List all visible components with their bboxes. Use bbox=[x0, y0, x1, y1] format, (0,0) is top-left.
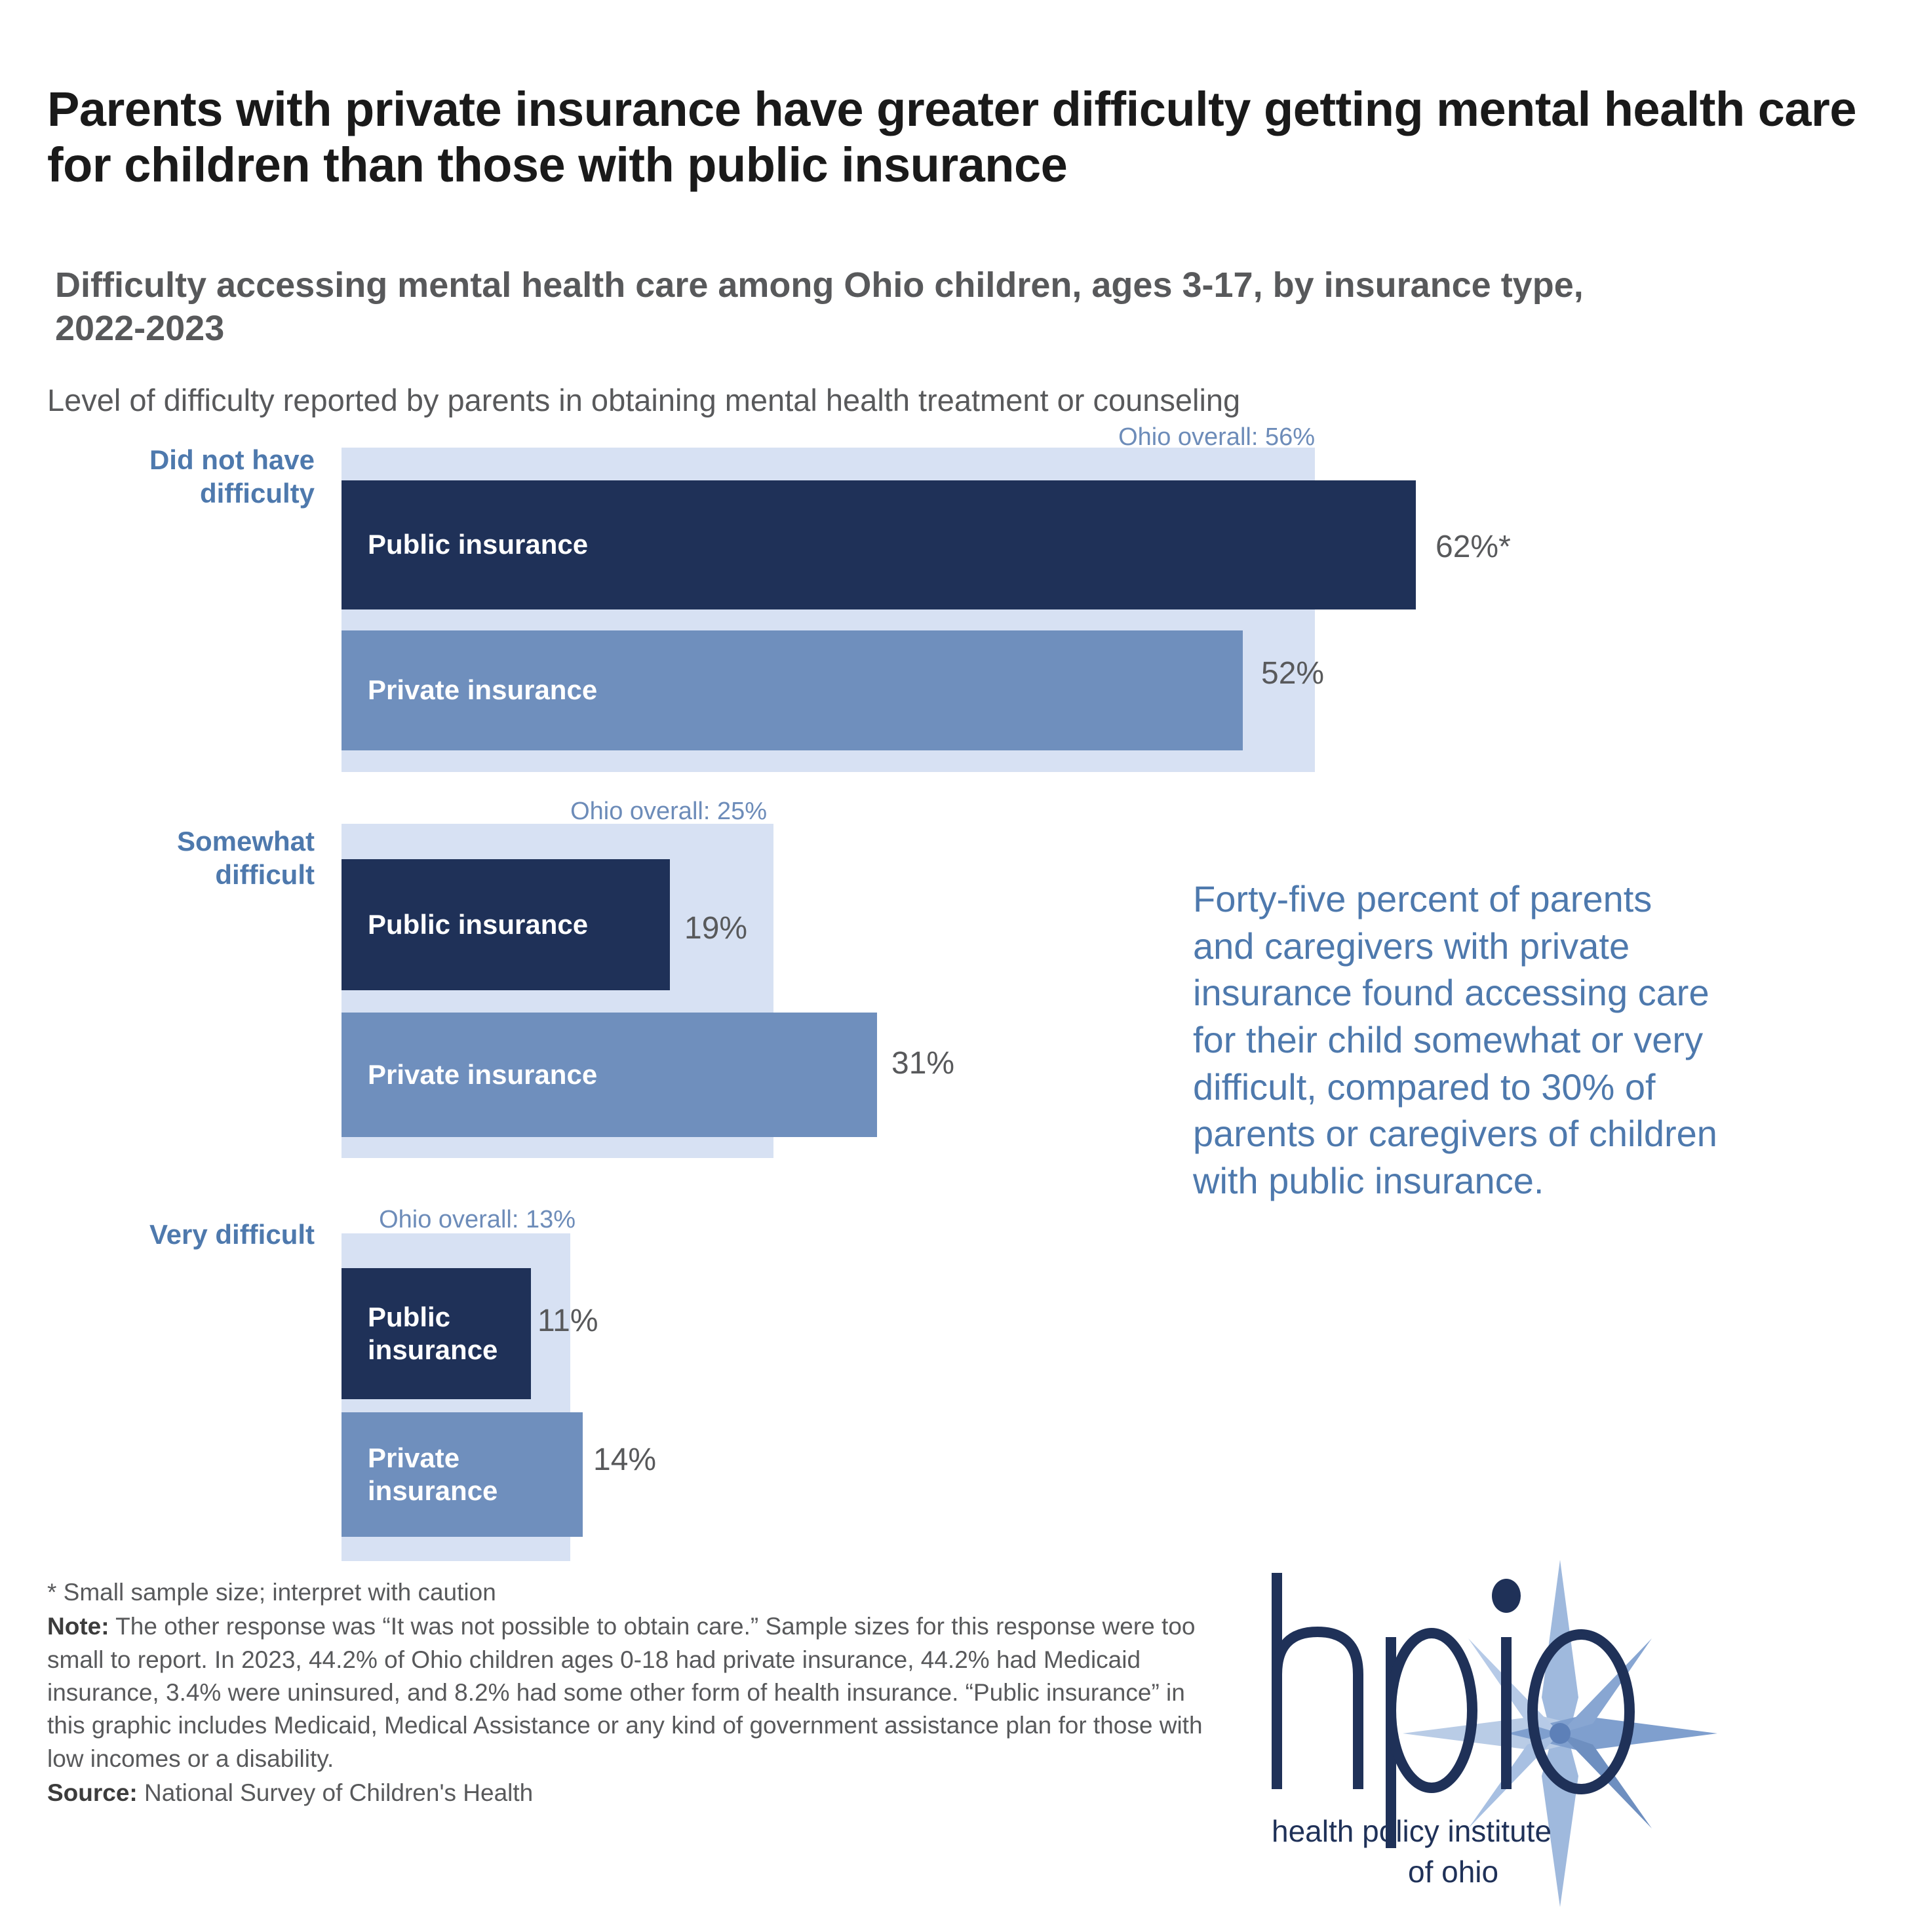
footnote-asterisk: * Small sample size; interpret with caut… bbox=[47, 1576, 1221, 1609]
bar-private-group-3[interactable]: Private insurance bbox=[342, 1412, 583, 1537]
logo-tagline-line-2: of ohio bbox=[1408, 1855, 1498, 1889]
category-label-did-not-have-difficulty: Did not have difficulty bbox=[0, 443, 315, 510]
hpio-i-dot bbox=[1492, 1579, 1521, 1613]
hpio-logo: health policy institute of ohio bbox=[1245, 1560, 1868, 1907]
footnote-source-label: Source: bbox=[47, 1779, 138, 1806]
bar-label-public-group-3: Public insurance bbox=[368, 1301, 498, 1367]
value-public-group-3: 11% bbox=[537, 1303, 598, 1339]
footnote-note-label: Note: bbox=[47, 1613, 109, 1640]
overall-label-group-2: Ohio overall: 25% bbox=[570, 798, 767, 826]
infographic-page: Parents with private insurance have grea… bbox=[0, 0, 1914, 1932]
bar-public-group-1[interactable]: Public insurance bbox=[342, 480, 1416, 609]
category-label-very-difficult: Very difficult bbox=[0, 1218, 315, 1251]
value-public-group-2: 19% bbox=[684, 910, 747, 946]
bar-private-group-2[interactable]: Private insurance bbox=[342, 1013, 877, 1137]
bar-label-private-group-3: Private insurance bbox=[368, 1442, 498, 1508]
bar-label-private-group-1: Private insurance bbox=[368, 674, 597, 706]
bar-label-private-group-2: Private insurance bbox=[368, 1058, 597, 1091]
footnote-source-text: National Survey of Children's Health bbox=[138, 1779, 533, 1806]
value-private-group-2: 31% bbox=[891, 1045, 954, 1081]
value-private-group-3: 14% bbox=[593, 1442, 656, 1478]
footnote-note-text: The other response was “It was not possi… bbox=[47, 1613, 1203, 1771]
logo-tagline-line-1: health policy institute bbox=[1272, 1814, 1552, 1848]
bar-public-group-3[interactable]: Public insurance bbox=[342, 1268, 531, 1399]
footnote-source: Source: National Survey of Children's He… bbox=[47, 1777, 1221, 1809]
bar-public-group-2[interactable]: Public insurance bbox=[342, 859, 670, 990]
overall-label-group-3: Ohio overall: 13% bbox=[379, 1206, 576, 1234]
footnote-note: Note: The other response was “It was not… bbox=[47, 1610, 1221, 1775]
bar-label-public-group-2: Public insurance bbox=[368, 908, 588, 941]
footnotes: * Small sample size; interpret with caut… bbox=[47, 1576, 1221, 1811]
bar-label-public-group-1: Public insurance bbox=[368, 528, 588, 561]
bar-private-group-1[interactable]: Private insurance bbox=[342, 630, 1243, 750]
category-label-somewhat-difficult: Somewhat difficult bbox=[0, 824, 315, 891]
callout-text: Forty-five percent of parents and caregi… bbox=[1193, 876, 1717, 1205]
value-public-group-1: 62%* bbox=[1435, 529, 1511, 565]
hpio-wordmark bbox=[1277, 1573, 1630, 1848]
value-private-group-1: 52% bbox=[1261, 655, 1324, 691]
